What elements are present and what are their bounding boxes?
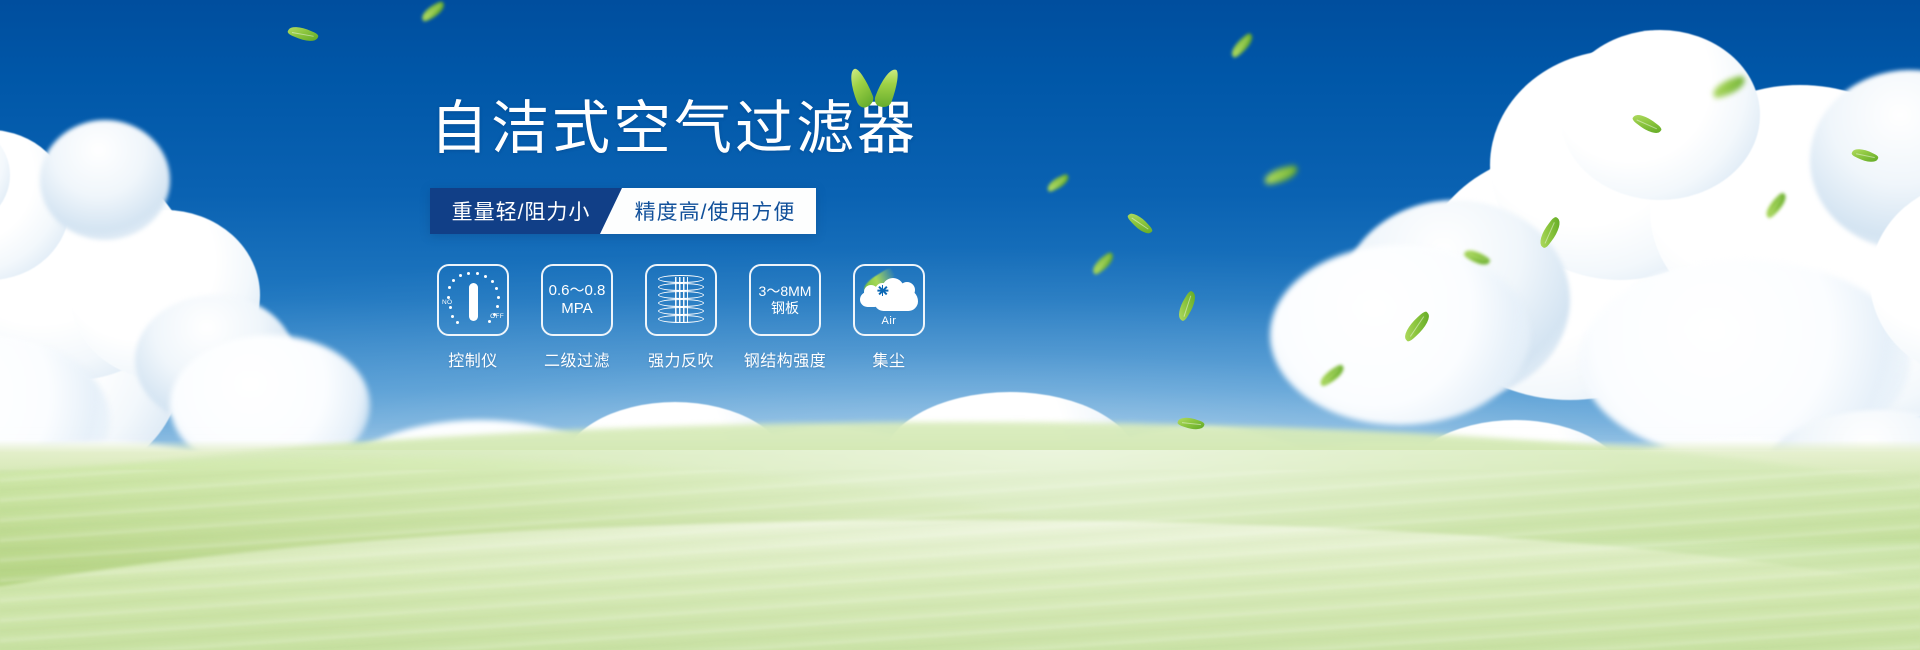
feature-icon-box: Air — [853, 264, 925, 336]
feature-label: 控制仪 — [430, 347, 516, 371]
sun-rays — [873, 281, 892, 300]
leaf-sprout-icon — [846, 66, 910, 108]
feature-icon-box: 0.6～0.8 MPA — [541, 264, 613, 336]
feature-item-dust-collection[interactable]: Air 集尘 — [846, 264, 932, 371]
leaf-sprout-left — [845, 66, 876, 109]
tab-precision-convenience[interactable]: 精度高/使用方便 — [600, 188, 816, 234]
feature-icon-box: 3～8MM 钢板 — [749, 264, 821, 336]
feature-tabs: 重量轻/阻力小 精度高/使用方便 — [430, 188, 838, 234]
feature-item-steel-strength[interactable]: 3～8MM 钢板 钢结构强度 — [742, 264, 828, 371]
grass-highlight — [0, 450, 1920, 650]
feature-list: NO OFF — [430, 264, 1110, 371]
gauge-dial-icon: NO OFF — [443, 272, 503, 328]
gauge-on-label: NO — [442, 299, 452, 306]
coil-spring-icon — [658, 275, 704, 325]
air-label: Air — [860, 315, 918, 327]
banner-content: 自洁式空气过滤器 重量轻/阻力小 精度高/使用方便 NO OFF — [430, 100, 1110, 371]
feature-icon-box: NO OFF — [437, 264, 509, 336]
feature-item-controller[interactable]: NO OFF — [430, 264, 516, 371]
feature-label: 强力反吹 — [638, 347, 724, 371]
feature-icon-box — [645, 264, 717, 336]
leaf-sprout-right — [873, 66, 903, 109]
pressure-text-icon: 0.6～0.8 MPA — [549, 282, 606, 318]
grass-field — [0, 440, 1920, 650]
cloud-air-icon: Air — [860, 275, 918, 325]
feature-label: 二级过滤 — [534, 347, 620, 371]
feature-item-reverse-blow[interactable]: 强力反吹 — [638, 264, 724, 371]
feature-item-two-stage-filter[interactable]: 0.6～0.8 MPA 二级过滤 — [534, 264, 620, 371]
feature-label: 钢结构强度 — [742, 347, 828, 371]
tab-weight-resistance[interactable]: 重量轻/阻力小 — [430, 188, 622, 234]
title-block: 自洁式空气过滤器 — [430, 100, 918, 158]
feature-label: 集尘 — [846, 347, 932, 371]
page-title: 自洁式空气过滤器 — [430, 100, 918, 158]
gauge-needle — [469, 283, 478, 321]
hero-banner: 自洁式空气过滤器 重量轻/阻力小 精度高/使用方便 NO OFF — [0, 0, 1920, 650]
steel-plate-text-icon: 3～8MM 钢板 — [759, 283, 812, 317]
